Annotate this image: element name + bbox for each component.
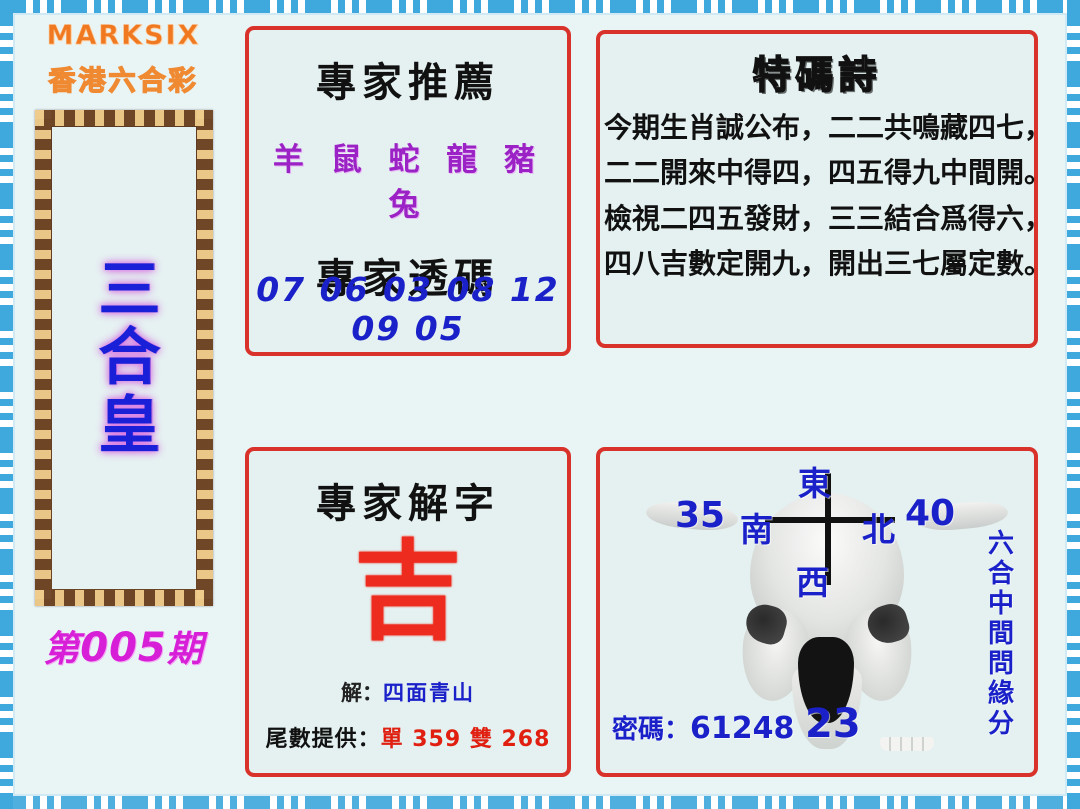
skull-side-slogan: 六合中間問緣分	[982, 529, 1015, 739]
skull-bottom-number: 23	[805, 701, 861, 747]
decorative-frame-top	[0, 0, 1080, 13]
scroll-face: 三合皇	[52, 127, 196, 589]
word-explanation-value: 四面青山	[383, 681, 475, 705]
issue-number: 005	[80, 625, 167, 671]
compass-label-north: 北	[862, 503, 895, 551]
poem-line: 二二開來中得四，四五得九中間開。	[604, 150, 1030, 195]
expert-tips-title: 專家推薦	[249, 50, 567, 108]
expert-word-panel: 專家解字 吉 解：四面青山 尾數提供：單 359 雙 268	[245, 447, 571, 777]
compass-label-east: 東	[798, 457, 831, 505]
lucky-character-glyph: 吉	[249, 539, 567, 647]
issue-prefix: 第	[43, 629, 80, 670]
tail-number-line: 尾數提供：單 359 雙 268	[249, 721, 567, 753]
brand-column: MARKSIX 香港六合彩 三合皇 第005期	[16, 14, 231, 794]
skull-teeth	[880, 737, 934, 751]
issue-line: 第005期	[16, 620, 231, 672]
expert-tips-panel: 專家推薦 羊 鼠 蛇 龍 豬 兔 專家透碼 07 06 03 08 12 09 …	[245, 26, 571, 356]
skull-compass-panel: 東 西 南 北 35 40 23 密碼：61248 六合中間問緣分	[596, 447, 1038, 777]
tail-number-label: 尾數提供：	[266, 727, 381, 752]
poem-body: 今期生肖誠公布，二二共鳴藏四七， 二二開來中得四，四五得九中間開。 檢視二四五發…	[600, 105, 1034, 286]
poem-line: 四八吉數定開九，開出三七屬定數。	[604, 241, 1030, 286]
poem-line: 今期生肖誠公布，二二共鳴藏四七，	[604, 105, 1030, 150]
skull-compass-stage: 東 西 南 北 35 40 23 密碼：61248 六合中間問緣分	[600, 451, 1034, 773]
scroll-title-text: 三合皇	[89, 256, 158, 460]
poster-root: MARKSIX 香港六合彩 三合皇 第005期 專家推薦 羊 鼠 蛇 龍 豬 兔…	[0, 0, 1080, 809]
compass-label-south: 南	[740, 503, 773, 551]
poem-title: 特碼詩	[600, 44, 1034, 99]
skull-right-number: 40	[905, 493, 955, 534]
brand-english-title: MARKSIX	[16, 20, 231, 51]
tail-number-value: 單 359 雙 268	[381, 727, 551, 752]
brand-chinese-title: 香港六合彩	[16, 59, 231, 98]
decorative-frame-bottom	[0, 796, 1080, 809]
poem-line: 檢視二四五發財，三三結合爲得六，	[604, 196, 1030, 241]
decorative-frame-left	[0, 0, 13, 809]
password-label: 密碼：	[612, 715, 690, 745]
expert-word-title: 專家解字	[249, 471, 567, 529]
decorative-frame-right	[1067, 0, 1080, 809]
special-number-poem-panel: 特碼詩 今期生肖誠公布，二二共鳴藏四七， 二二開來中得四，四五得九中間開。 檢視…	[596, 30, 1038, 348]
word-explanation-line: 解：四面青山	[249, 677, 567, 707]
recommended-numbers: 07 06 03 08 12 09 05	[249, 270, 567, 348]
recommended-zodiac-list: 羊 鼠 蛇 龍 豬 兔	[249, 134, 567, 224]
password-line: 密碼：61248	[612, 709, 794, 746]
issue-suffix: 期	[167, 629, 204, 670]
password-value: 61248	[690, 711, 794, 746]
compass-label-west: 西	[796, 556, 829, 604]
word-explanation-label: 解：	[341, 681, 383, 705]
skull-left-number: 35	[675, 495, 725, 536]
scroll-plaque: 三合皇	[35, 110, 213, 606]
